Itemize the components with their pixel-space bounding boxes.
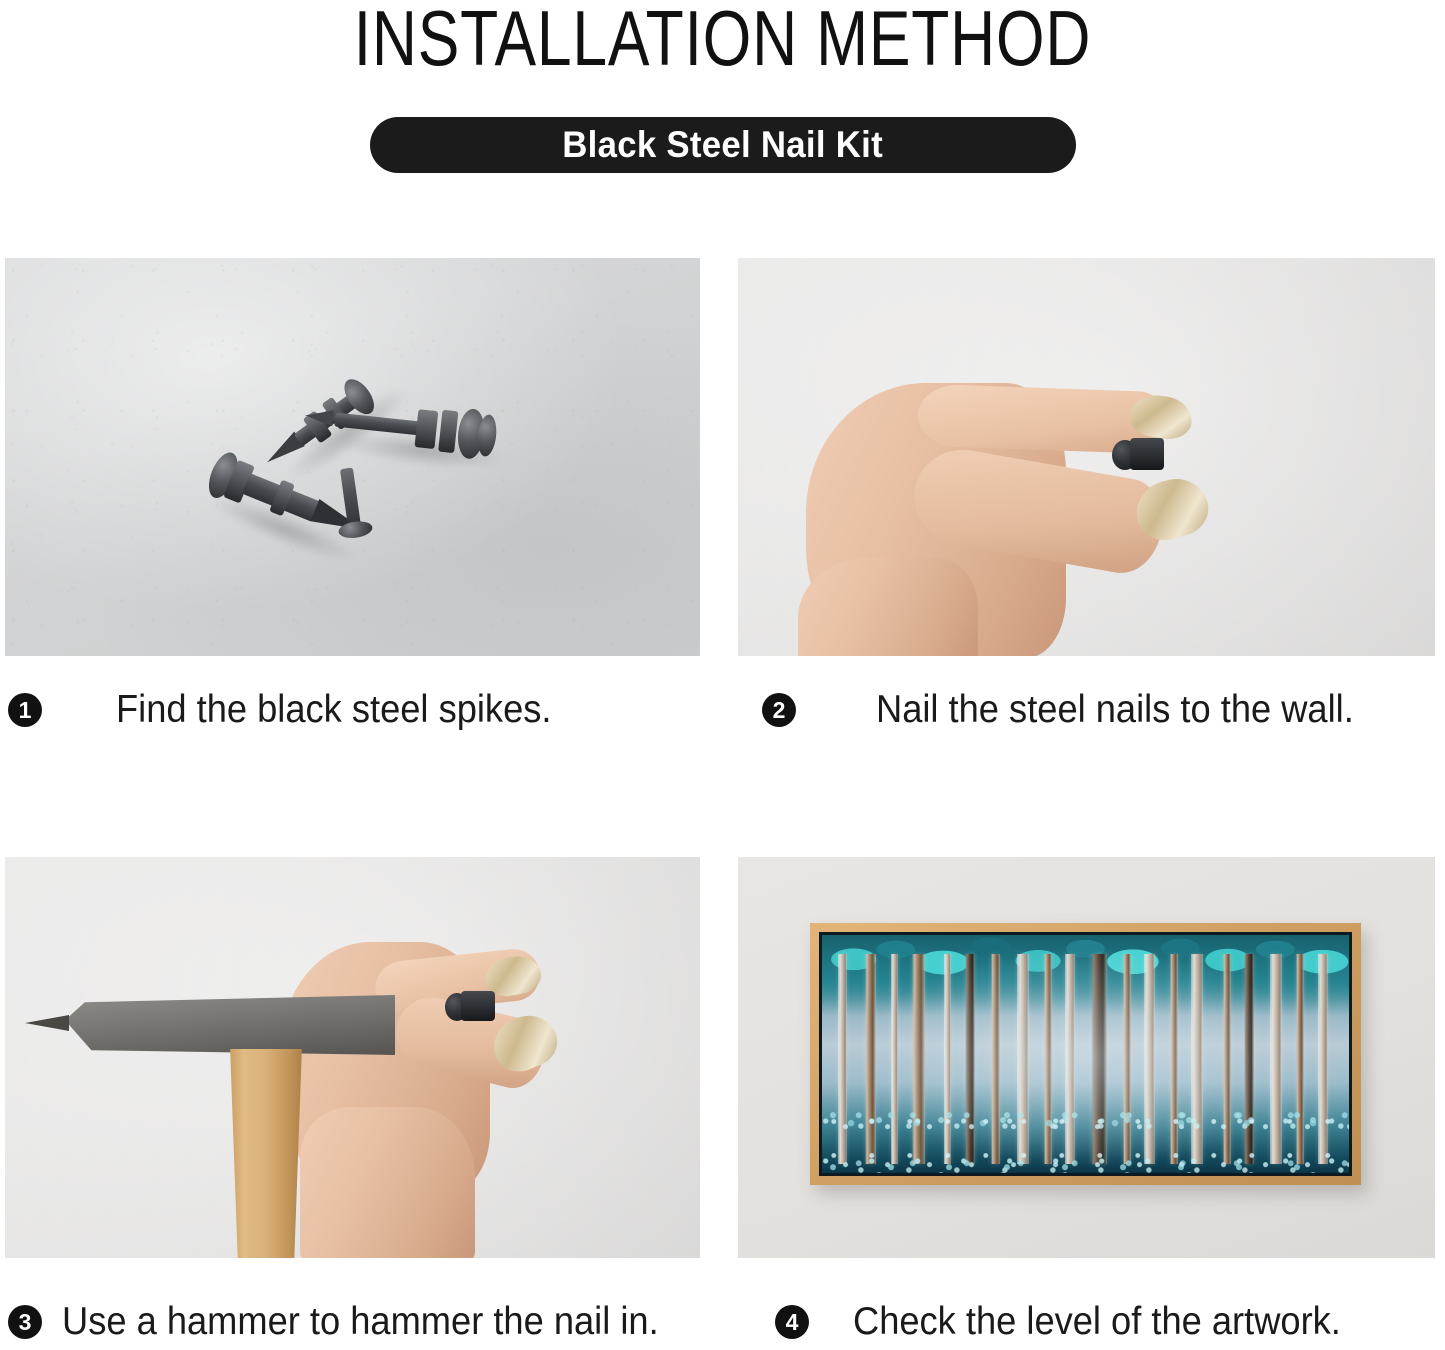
birch-forest-painting — [822, 935, 1349, 1174]
hammer-peen — [25, 1015, 69, 1031]
hand-photo-background — [738, 258, 1435, 656]
hammer-handle — [227, 1049, 305, 1258]
subtitle-text: Black Steel Nail Kit — [563, 125, 884, 165]
painting-atmospheric-haze — [822, 935, 1349, 1174]
hand-wrist — [798, 558, 978, 656]
photo-hand-holding-nail-at-wall — [738, 258, 1435, 656]
steel-spike-a-stem — [329, 452, 431, 554]
step-caption-text-1: Find the black steel spikes. — [116, 688, 551, 732]
page-title: INSTALLATION METHOD — [145, 0, 1301, 80]
step-caption-text-3: Use a hammer to hammer the nail in. — [62, 1300, 659, 1344]
canvas-inner-border — [819, 932, 1352, 1177]
step-badge-4: 4 — [775, 1305, 809, 1339]
hammer-photo-background — [5, 857, 700, 1258]
hand-wrist — [300, 1107, 475, 1258]
step-caption-2: 2 Nail the steel nails to the wall. — [762, 688, 1390, 732]
handle-wood-grain — [227, 1049, 305, 1258]
steel-nail-body — [1130, 438, 1164, 470]
subtitle-pill: Black Steel Nail Kit — [370, 117, 1076, 173]
step-caption-4: 4 Check the level of the artwork. — [775, 1300, 1378, 1344]
step-caption-text-4: Check the level of the artwork. — [853, 1300, 1341, 1344]
hammer-head — [65, 995, 395, 1055]
artwork-photo-background — [738, 857, 1435, 1258]
step-caption-3: 3 Use a hammer to hammer the nail in. — [8, 1300, 704, 1344]
step-badge-1: 1 — [8, 693, 42, 727]
nails-photo-background — [5, 258, 700, 656]
step-caption-1: 1 Find the black steel spikes. — [8, 688, 584, 732]
photo-hammering-nail — [5, 857, 700, 1258]
picture-frame — [810, 923, 1361, 1186]
step-badge-2: 2 — [762, 693, 796, 727]
step-badge-3: 3 — [8, 1305, 42, 1339]
photo-framed-artwork-on-wall — [738, 857, 1435, 1258]
steel-nail-body — [461, 991, 495, 1021]
photo-black-steel-spikes — [5, 258, 700, 656]
step-caption-text-2: Nail the steel nails to the wall. — [876, 688, 1354, 732]
